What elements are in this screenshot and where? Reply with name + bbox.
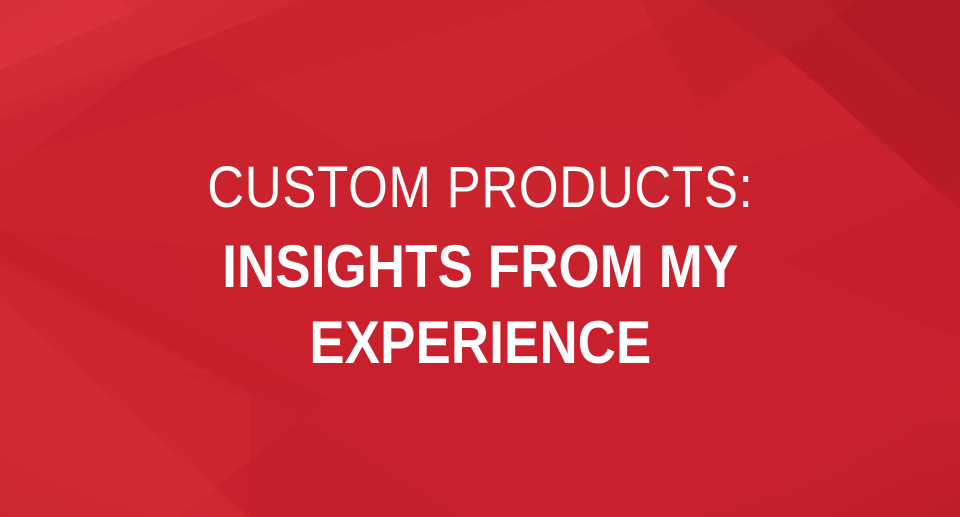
headline-line-3: EXPERIENCE bbox=[309, 313, 651, 373]
headline-block: CUSTOM PRODUCTS: INSIGHTS FROM MY EXPERI… bbox=[0, 0, 960, 517]
headline-line-1: CUSTOM PRODUCTS: bbox=[207, 159, 753, 217]
hero-banner: CUSTOM PRODUCTS: INSIGHTS FROM MY EXPERI… bbox=[0, 0, 960, 517]
headline-line-2: INSIGHTS FROM MY bbox=[222, 237, 738, 297]
